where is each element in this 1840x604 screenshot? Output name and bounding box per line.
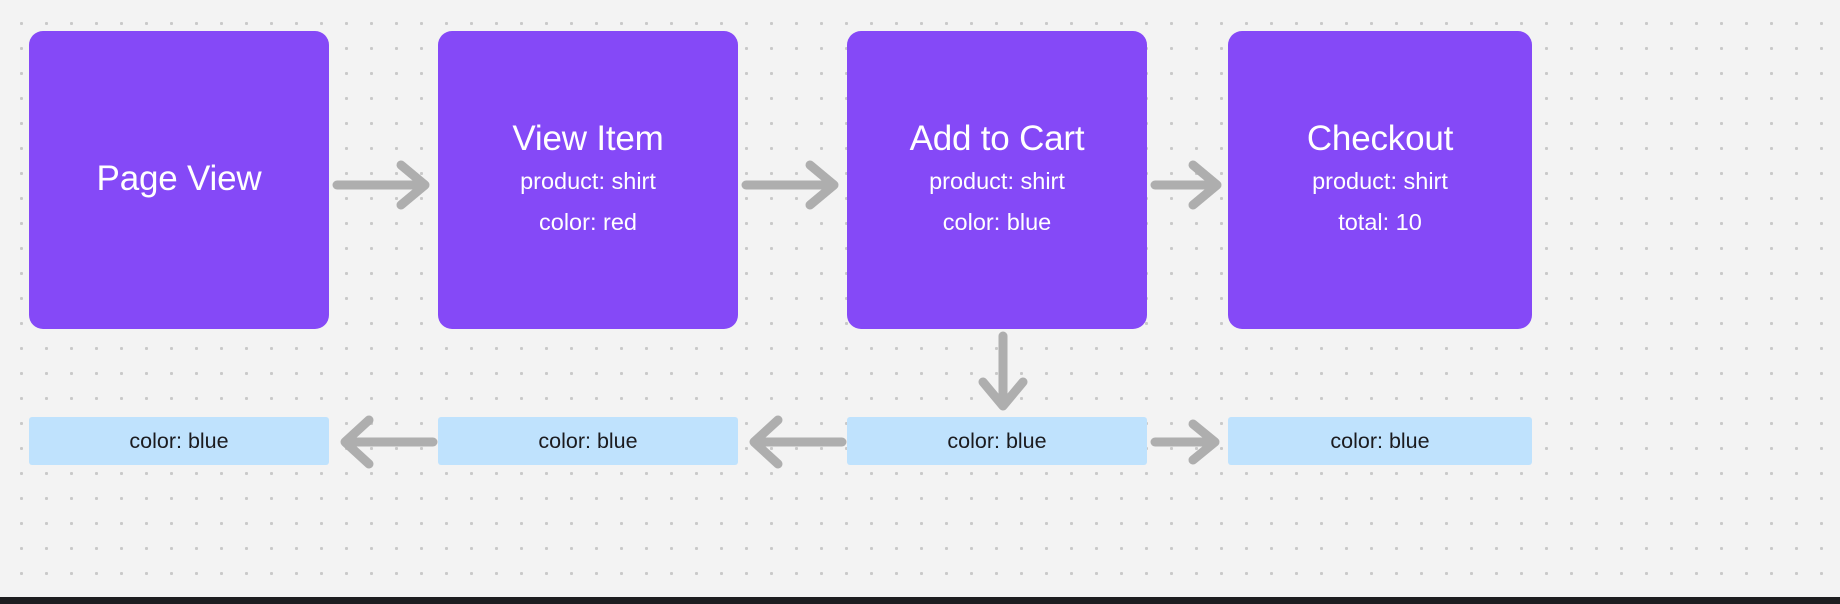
event-node-title: Checkout	[1307, 118, 1453, 159]
event-node-view-item[interactable]: View Item product: shirt color: red	[438, 31, 738, 329]
property-chip-label: color: blue	[129, 429, 228, 454]
property-chip[interactable]: color: blue	[847, 417, 1147, 465]
event-node-add-to-cart[interactable]: Add to Cart product: shirt color: blue	[847, 31, 1147, 329]
arrow-right-icon	[1151, 157, 1229, 213]
property-chip-label: color: blue	[538, 429, 637, 454]
arrow-right-icon	[333, 157, 437, 213]
event-node-title: View Item	[512, 118, 663, 159]
event-property: total: 10	[1338, 202, 1422, 242]
diagram-canvas: Page View View Item product: shirt color…	[0, 0, 1840, 604]
property-chip[interactable]: color: blue	[29, 417, 329, 465]
event-property: product: shirt	[1312, 161, 1448, 201]
event-property: product: shirt	[929, 161, 1065, 201]
arrow-down-icon	[975, 332, 1031, 418]
arrow-right-icon	[1151, 418, 1229, 466]
event-node-properties: product: shirt color: blue	[929, 161, 1065, 242]
event-property: product: shirt	[520, 161, 656, 201]
arrow-left-icon	[742, 418, 846, 466]
arrow-right-icon	[742, 157, 846, 213]
event-property: color: red	[539, 202, 637, 242]
arrow-left-icon	[333, 418, 437, 466]
event-node-page-view[interactable]: Page View	[29, 31, 329, 329]
property-chip-label: color: blue	[1330, 429, 1429, 454]
property-chip[interactable]: color: blue	[1228, 417, 1532, 465]
property-chip[interactable]: color: blue	[438, 417, 738, 465]
event-node-checkout[interactable]: Checkout product: shirt total: 10	[1228, 31, 1532, 329]
event-node-properties: product: shirt color: red	[520, 161, 656, 242]
event-node-title: Add to Cart	[910, 118, 1085, 159]
event-node-title: Page View	[97, 158, 262, 199]
event-property: color: blue	[943, 202, 1051, 242]
event-node-properties: product: shirt total: 10	[1312, 161, 1448, 242]
property-chip-label: color: blue	[947, 429, 1046, 454]
